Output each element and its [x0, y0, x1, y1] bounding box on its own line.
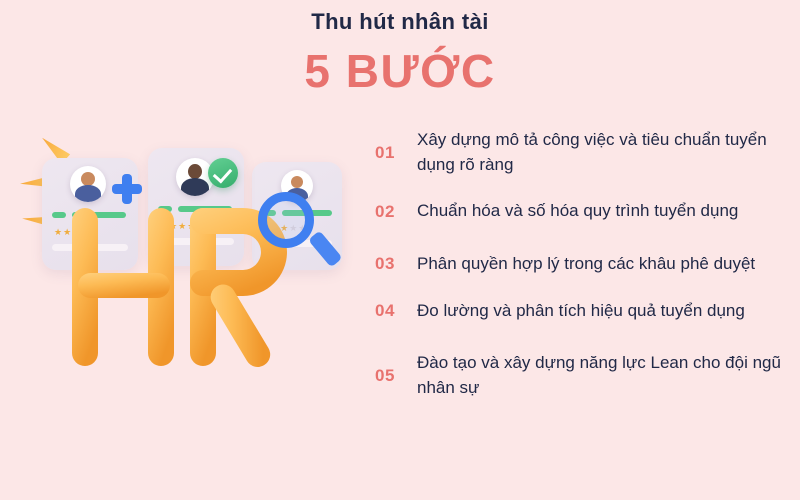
- list-item: 01 Xây dựng mô tả công việc và tiêu chuẩ…: [375, 128, 785, 177]
- step-text: Đo lường và phân tích hiệu quả tuyển dụn…: [417, 299, 785, 324]
- step-text: Chuẩn hóa và số hóa quy trình tuyển dụng: [417, 199, 785, 224]
- list-item: 02 Chuẩn hóa và số hóa quy trình tuyển d…: [375, 199, 785, 224]
- step-number: 04: [375, 301, 417, 321]
- plus-icon: [112, 174, 142, 204]
- magnifier-icon: [258, 192, 330, 264]
- check-badge-icon: [208, 158, 238, 188]
- steps-list: 01 Xây dựng mô tả công việc và tiêu chuẩ…: [375, 128, 785, 414]
- placeholder-bar: [158, 238, 234, 245]
- list-item: 05 Đào tạo và xây dựng năng lực Lean cho…: [375, 351, 785, 400]
- progress-bar: [178, 206, 232, 212]
- step-text: Xây dựng mô tả công việc và tiêu chuẩn t…: [417, 128, 785, 177]
- step-number: 03: [375, 254, 417, 274]
- step-number: 05: [375, 366, 417, 386]
- list-item: 03 Phân quyền hợp lý trong các khâu phê …: [375, 252, 785, 277]
- star-rating-icon: ★★★★★: [54, 228, 99, 237]
- step-number: 01: [375, 143, 417, 163]
- infographic-canvas: Thu hút nhân tài 5 BƯỚC ★★★★★: [0, 0, 800, 500]
- progress-bar: [72, 212, 126, 218]
- progress-bar: [52, 212, 66, 218]
- avatar: [70, 166, 106, 202]
- magnifier-ring-icon: [258, 192, 314, 248]
- hr-illustration: ★★★★★ ★★★★★ ★★★★★: [0, 130, 360, 390]
- header-block: Thu hút nhân tài 5 BƯỚC: [200, 8, 600, 100]
- star-rating-icon: ★★★★★: [160, 222, 205, 231]
- list-item: 04 Đo lường và phân tích hiệu quả tuyển …: [375, 299, 785, 324]
- step-text: Đào tạo và xây dựng năng lực Lean cho độ…: [417, 351, 785, 400]
- step-text: Phân quyền hợp lý trong các khâu phê duy…: [417, 252, 785, 277]
- step-number: 02: [375, 202, 417, 222]
- progress-bar: [158, 206, 172, 212]
- placeholder-bar: [52, 244, 128, 251]
- main-title: 5 BƯỚC: [200, 43, 600, 101]
- eyebrow-title: Thu hút nhân tài: [200, 8, 600, 37]
